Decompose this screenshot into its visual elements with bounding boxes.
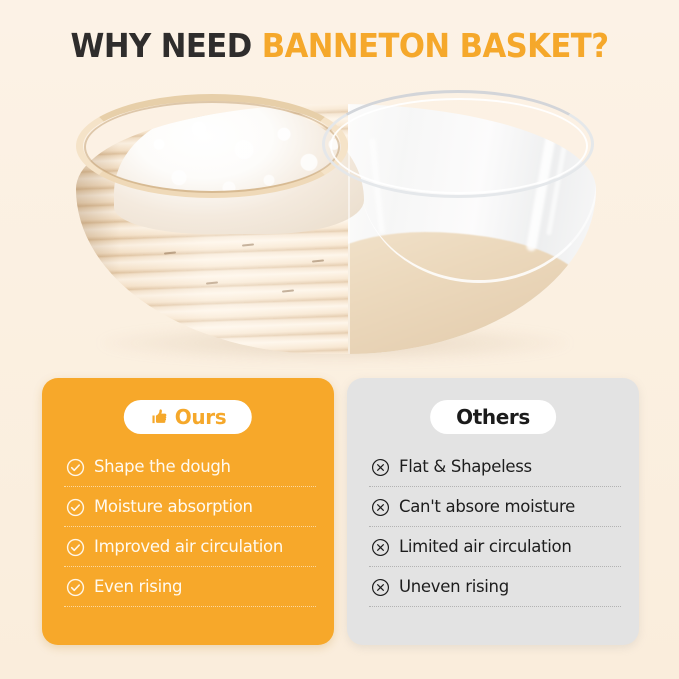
infographic-page: WHY NEED BANNETON BASKET? [0,0,679,679]
weave-slit-icon [282,289,294,292]
list-item: Even rising [64,570,316,604]
list-divider [369,606,621,607]
check-circle-icon [66,538,85,557]
list-item-label: Uneven rising [399,578,509,596]
list-item: Shape the dough [64,450,316,484]
list-divider [369,566,621,567]
list-divider [369,486,621,487]
list-item: Can't absore moisture [369,490,621,524]
glass-bowl-rim-inner [330,98,588,194]
list-divider [369,526,621,527]
list-item: Moisture absorption [64,490,316,524]
weave-slit-icon [164,251,176,254]
list-item: Uneven rising [369,570,621,604]
list-item-label: Moisture absorption [94,498,253,516]
weave-slit-icon [206,281,218,284]
weave-slit-icon [242,243,254,246]
list-item: Flat & Shapeless [369,450,621,484]
hero-image [0,82,679,367]
badge-ours: Ours [124,400,252,434]
list-divider [64,486,316,487]
others-drawback-list: Flat & Shapeless Can't absore moisture [369,450,621,610]
list-item-label: Improved air circulation [94,538,283,556]
x-circle-icon [371,458,390,477]
thumbs-up-icon [150,407,170,427]
list-item-label: Flat & Shapeless [399,458,532,476]
bowl-comparison-illustration [72,88,600,360]
list-item: Improved air circulation [64,530,316,564]
list-item-label: Limited air circulation [399,538,572,556]
list-item: Limited air circulation [369,530,621,564]
list-divider [64,526,316,527]
panel-ours: Ours Shape the dough Moisture a [42,378,334,645]
badge-others-label: Others [456,407,530,427]
badge-others: Others [430,400,556,434]
badge-ours-label: Ours [175,407,226,427]
ours-feature-list: Shape the dough Moisture absorption [64,450,316,610]
comparison-panels: Ours Shape the dough Moisture a [0,378,679,653]
page-title: WHY NEED BANNETON BASKET? [24,26,655,66]
check-circle-icon [66,498,85,517]
check-circle-icon [66,578,85,597]
list-item-label: Shape the dough [94,458,231,476]
x-circle-icon [371,538,390,557]
page-title-part-2: BANNETON BASKET? [262,26,609,65]
list-divider [64,566,316,567]
x-circle-icon [371,498,390,517]
banneton-rim-inner-edge [84,101,340,193]
panel-others: Others Flat & Shapeless Can't a [347,378,639,645]
list-item-label: Even rising [94,578,182,596]
list-item-label: Can't absore moisture [399,498,575,516]
bowl-graphic [72,88,600,353]
list-divider [64,606,316,607]
weave-slit-icon [312,259,324,262]
page-title-part-1: WHY NEED [71,26,262,65]
x-circle-icon [371,578,390,597]
check-circle-icon [66,458,85,477]
